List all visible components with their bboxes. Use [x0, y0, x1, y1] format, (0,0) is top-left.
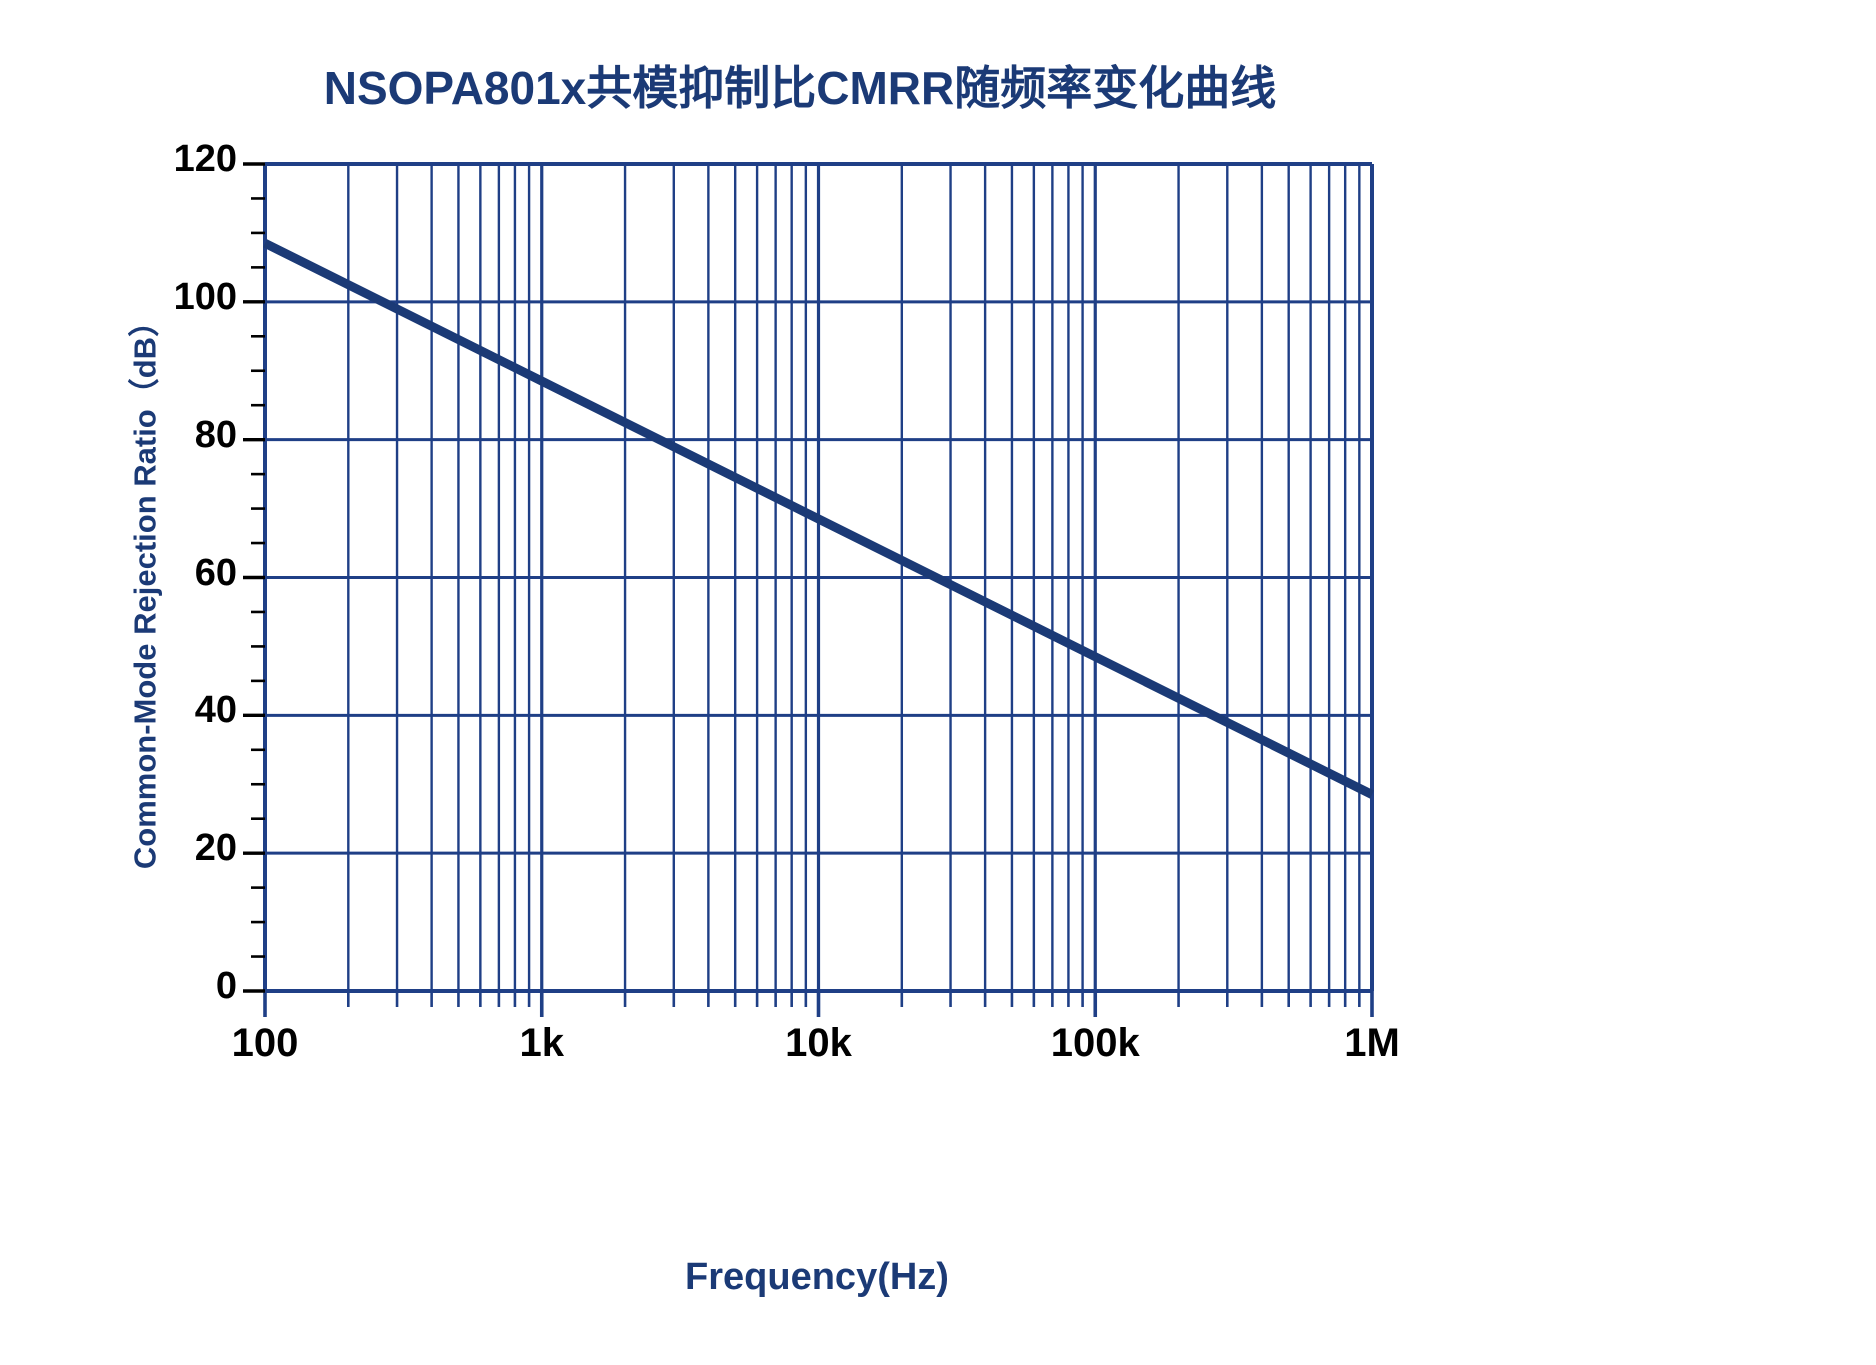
- x-tick-label: 1M: [1282, 1021, 1462, 1066]
- y-tick-label: 80: [117, 414, 237, 457]
- y-tick-label: 0: [117, 965, 237, 1008]
- cmrr-chart-figure: NSOPA801x共模抑制比CMRR随频率变化曲线 Common-Mode Re…: [0, 0, 1876, 1365]
- y-tick-label: 20: [117, 827, 237, 870]
- y-tick-label: 60: [117, 552, 237, 595]
- x-tick-label: 100k: [1005, 1021, 1185, 1066]
- plot-area: [0, 0, 1876, 1365]
- x-tick-label: 100: [175, 1021, 355, 1066]
- x-tick-label: 1k: [452, 1021, 632, 1066]
- x-tick-label: 10k: [729, 1021, 909, 1066]
- axis-tick-marks: [243, 164, 1372, 1017]
- y-tick-label: 120: [117, 138, 237, 181]
- y-tick-label: 40: [117, 689, 237, 732]
- y-tick-label: 100: [117, 276, 237, 319]
